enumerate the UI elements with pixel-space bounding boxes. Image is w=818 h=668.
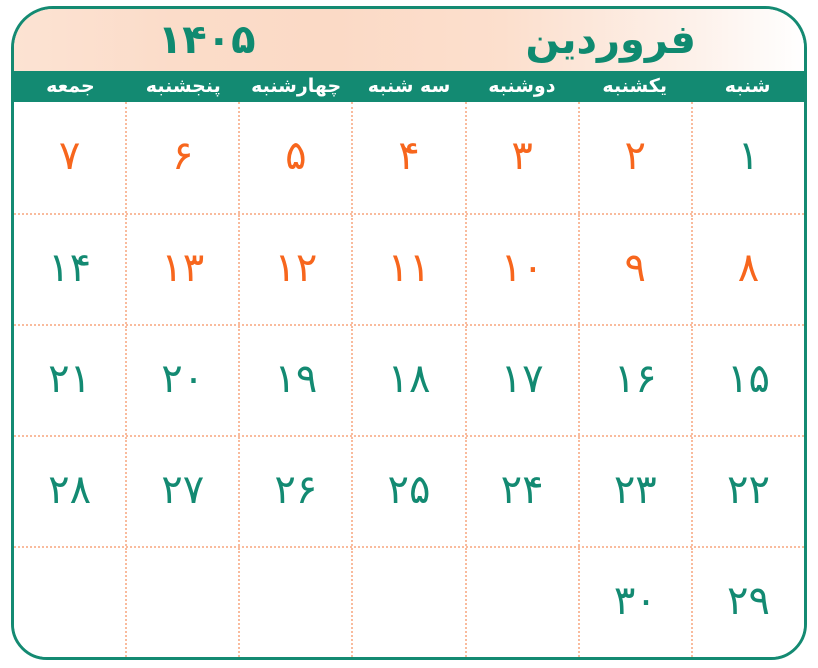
day-cell[interactable]: ۲۵ (351, 437, 464, 546)
day-cell[interactable]: ۲۶ (238, 437, 351, 546)
day-cell[interactable]: ۲۲ (691, 437, 804, 546)
day-number: ۲ (625, 136, 646, 180)
day-number: ۱۶ (614, 359, 657, 403)
day-number: ۲۷ (161, 470, 204, 514)
day-cell[interactable]: ۱۵ (691, 326, 804, 435)
day-cell[interactable]: ۲۳ (578, 437, 691, 546)
day-number: ۲۶ (274, 470, 317, 514)
day-number: ۱۸ (388, 359, 431, 403)
day-number: ۶ (172, 136, 193, 180)
day-cell[interactable]: ۲۹ (691, 548, 804, 657)
day-cell[interactable]: ۹ (578, 215, 691, 324)
day-cell[interactable]: ۱۱ (351, 215, 464, 324)
day-cell[interactable]: ۳۰ (578, 548, 691, 657)
week-row: ۲۹ ۳۰ (14, 546, 804, 657)
day-cell[interactable]: ۲۴ (465, 437, 578, 546)
day-cell[interactable]: ۲۷ (125, 437, 238, 546)
day-number: ۲۲ (727, 470, 770, 514)
day-number: ۲۸ (48, 470, 91, 514)
weekday-header-row: شنبه یکشنبه دوشنبه سه شنبه چهارشنبه پنجش… (14, 71, 804, 102)
day-number: ۳ (511, 136, 532, 180)
day-cell[interactable]: ۸ (691, 215, 804, 324)
day-number: ۴ (398, 136, 419, 180)
day-cell[interactable]: ۱۳ (125, 215, 238, 324)
week-row: ۲۲ ۲۳ ۲۴ ۲۵ ۲۶ ۲۷ ۲۸ (14, 435, 804, 546)
calendar-frame: فروردین ۱۴۰۵ شنبه یکشنبه دوشنبه سه شنبه … (11, 6, 807, 660)
day-cell[interactable]: ۱۹ (238, 326, 351, 435)
day-number: ۱۳ (161, 248, 204, 292)
year-title: ۱۴۰۵ (158, 20, 256, 60)
week-row: ۸ ۹ ۱۰ ۱۱ ۱۲ ۱۳ ۱۴ (14, 213, 804, 324)
day-cell[interactable]: ۱ (691, 102, 804, 213)
week-row: ۱۵ ۱۶ ۱۷ ۱۸ ۱۹ ۲۰ ۲۱ (14, 324, 804, 435)
week-row: ۱ ۲ ۳ ۴ ۵ ۶ ۷ (14, 102, 804, 213)
day-grid: ۱ ۲ ۳ ۴ ۵ ۶ ۷ ۸ ۹ ۱۰ ۱۱ ۱۲ ۱۳ ۱۴ ۱۵ ۱۶ ۱… (14, 102, 804, 657)
day-cell[interactable]: ۱۶ (578, 326, 691, 435)
day-cell[interactable]: ۴ (351, 102, 464, 213)
day-cell[interactable]: ۱۰ (465, 215, 578, 324)
day-number: ۱۴ (48, 248, 91, 292)
day-cell[interactable]: ۲۸ (14, 437, 125, 546)
persian-calendar: فروردین ۱۴۰۵ شنبه یکشنبه دوشنبه سه شنبه … (0, 0, 818, 668)
day-number: ۳۰ (614, 581, 657, 625)
weekday-header-doshanbe: دوشنبه (465, 71, 578, 102)
day-number: ۲۳ (614, 470, 657, 514)
day-cell[interactable]: ۳ (465, 102, 578, 213)
day-number: ۲۹ (727, 581, 770, 625)
day-cell-empty[interactable] (14, 548, 125, 657)
day-number: ۱۹ (274, 359, 317, 403)
day-number: ۱۵ (727, 359, 770, 403)
day-cell-empty[interactable] (351, 548, 464, 657)
day-cell[interactable]: ۷ (14, 102, 125, 213)
day-cell[interactable]: ۲۱ (14, 326, 125, 435)
weekday-header-shanbe: شنبه (691, 71, 804, 102)
weekday-header-jomeh: جمعه (14, 71, 127, 102)
day-number: ۱۰ (501, 248, 544, 292)
day-number: ۲۰ (161, 359, 204, 403)
day-cell-empty[interactable] (465, 548, 578, 657)
weekday-header-chaharshanbe: چهارشنبه (240, 71, 353, 102)
day-cell[interactable]: ۶ (125, 102, 238, 213)
day-number: ۱۷ (501, 359, 544, 403)
day-number: ۱۱ (388, 248, 431, 292)
day-cell-empty[interactable] (238, 548, 351, 657)
day-cell[interactable]: ۲ (578, 102, 691, 213)
day-number: ۲۵ (388, 470, 431, 514)
day-cell-empty[interactable] (125, 548, 238, 657)
calendar-title-bar: فروردین ۱۴۰۵ (14, 9, 804, 71)
month-title: فروردین (525, 20, 696, 60)
weekday-header-panjshanbe: پنجشنبه (127, 71, 240, 102)
day-number: ۹ (625, 248, 646, 292)
day-cell[interactable]: ۱۷ (465, 326, 578, 435)
day-cell[interactable]: ۱۴ (14, 215, 125, 324)
weekday-header-seshanbe: سه شنبه (353, 71, 466, 102)
day-number: ۲۱ (48, 359, 91, 403)
day-number: ۷ (59, 136, 80, 180)
day-number: ۲۴ (501, 470, 544, 514)
day-number: ۵ (285, 136, 306, 180)
day-cell[interactable]: ۱۲ (238, 215, 351, 324)
day-number: ۱ (738, 136, 759, 180)
day-cell[interactable]: ۲۰ (125, 326, 238, 435)
day-number: ۸ (738, 248, 759, 292)
day-cell[interactable]: ۵ (238, 102, 351, 213)
day-number: ۱۲ (274, 248, 317, 292)
weekday-header-yekshanbe: یکشنبه (578, 71, 691, 102)
day-cell[interactable]: ۱۸ (351, 326, 464, 435)
